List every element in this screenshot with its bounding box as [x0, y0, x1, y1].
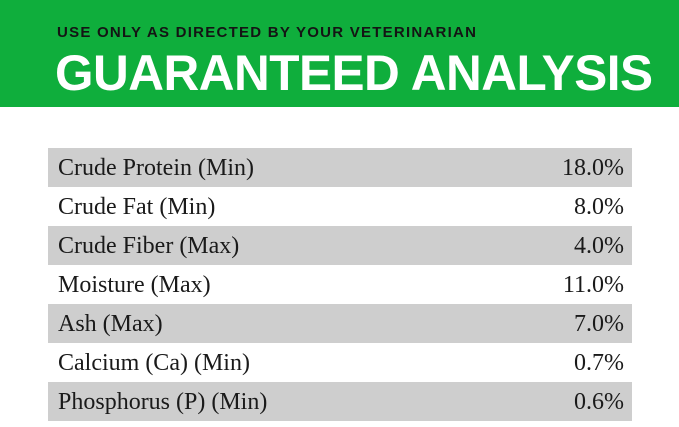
nutrient-label: Crude Protein (Min) [58, 154, 254, 182]
nutrient-value: 0.7% [574, 349, 624, 377]
table-row: Crude Fiber (Max) 4.0% [48, 226, 632, 265]
nutrient-label: Crude Fiber (Max) [58, 232, 239, 260]
nutrient-value: 18.0% [562, 154, 624, 182]
guaranteed-analysis-table: Crude Protein (Min) 18.0% Crude Fat (Min… [48, 148, 632, 421]
table-row: Phosphorus (P) (Min) 0.6% [48, 382, 632, 421]
nutrient-value: 4.0% [574, 232, 624, 260]
nutrient-value: 0.6% [574, 388, 624, 416]
nutrient-label: Crude Fat (Min) [58, 193, 215, 221]
nutrient-value: 8.0% [574, 193, 624, 221]
table-row: Calcium (Ca) (Min) 0.7% [48, 343, 632, 382]
table-row: Crude Protein (Min) 18.0% [48, 148, 632, 187]
table-row: Moisture (Max) 11.0% [48, 265, 632, 304]
guaranteed-analysis-panel: USE ONLY AS DIRECTED BY YOUR VETERINARIA… [0, 0, 679, 427]
nutrient-label: Ash (Max) [58, 310, 163, 338]
header-band: USE ONLY AS DIRECTED BY YOUR VETERINARIA… [0, 0, 679, 107]
nutrient-value: 11.0% [563, 271, 624, 299]
table-row: Crude Fat (Min) 8.0% [48, 187, 632, 226]
nutrient-label: Moisture (Max) [58, 271, 211, 299]
table-row: Ash (Max) 7.0% [48, 304, 632, 343]
nutrient-label: Calcium (Ca) (Min) [58, 349, 250, 377]
nutrient-label: Phosphorus (P) (Min) [58, 388, 267, 416]
header-subtitle: USE ONLY AS DIRECTED BY YOUR VETERINARIA… [57, 24, 477, 42]
page-title: GUARANTEED ANALYSIS [55, 47, 653, 99]
nutrient-value: 7.0% [574, 310, 624, 338]
